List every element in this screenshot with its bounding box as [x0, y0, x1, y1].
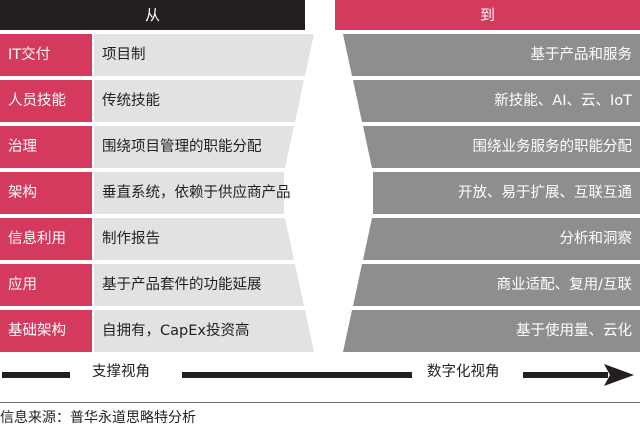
- from-label-3: 围绕项目管理的职能分配: [102, 140, 262, 155]
- category-label-5: 信息利用: [8, 232, 66, 247]
- source-divider: [0, 402, 640, 403]
- from-label-4: 垂直系统，依赖于供应商产品: [102, 186, 291, 201]
- source-note: 信息来源：普华永道思略特分析: [0, 411, 640, 425]
- axis-segment-middle: [182, 372, 412, 378]
- from-header-label: 从: [0, 8, 305, 23]
- axis-segment-right: [523, 372, 608, 378]
- to-header-label: 到: [335, 8, 640, 23]
- diagram-canvas: 从 到 IT交付 项目制 基于产品和服务 人员技能 传统技能 新技能、AI、云、…: [0, 0, 640, 437]
- category-label-1: IT交付: [8, 48, 50, 63]
- to-label-4: 开放、易于扩展、互联互通: [380, 186, 632, 201]
- to-label-7: 基于使用量、云化: [380, 324, 632, 339]
- axis-segment-left: [2, 372, 70, 378]
- to-label-5: 分析和洞察: [380, 232, 632, 247]
- axis-arrowhead-icon: [604, 364, 634, 386]
- category-label-2: 人员技能: [8, 94, 66, 109]
- from-label-5: 制作报告: [102, 232, 160, 247]
- category-label-7: 基础架构: [8, 324, 66, 339]
- to-label-1: 基于产品和服务: [380, 48, 632, 63]
- from-label-2: 传统技能: [102, 94, 160, 109]
- axis-label-left: 支撑视角: [92, 365, 150, 380]
- category-label-4: 架构: [8, 186, 37, 201]
- from-label-7: 自拥有，CapEx投资高: [102, 324, 249, 339]
- category-label-3: 治理: [8, 140, 37, 155]
- to-label-3: 围绕业务服务的职能分配: [380, 140, 632, 155]
- from-label-6: 基于产品套件的功能延展: [102, 278, 262, 293]
- axis-label-right: 数字化视角: [427, 365, 500, 380]
- from-label-1: 项目制: [102, 48, 146, 63]
- to-label-2: 新技能、AI、云、IoT: [380, 94, 632, 109]
- category-label-6: 应用: [8, 278, 37, 293]
- to-label-6: 商业适配、复用/互联: [380, 278, 632, 293]
